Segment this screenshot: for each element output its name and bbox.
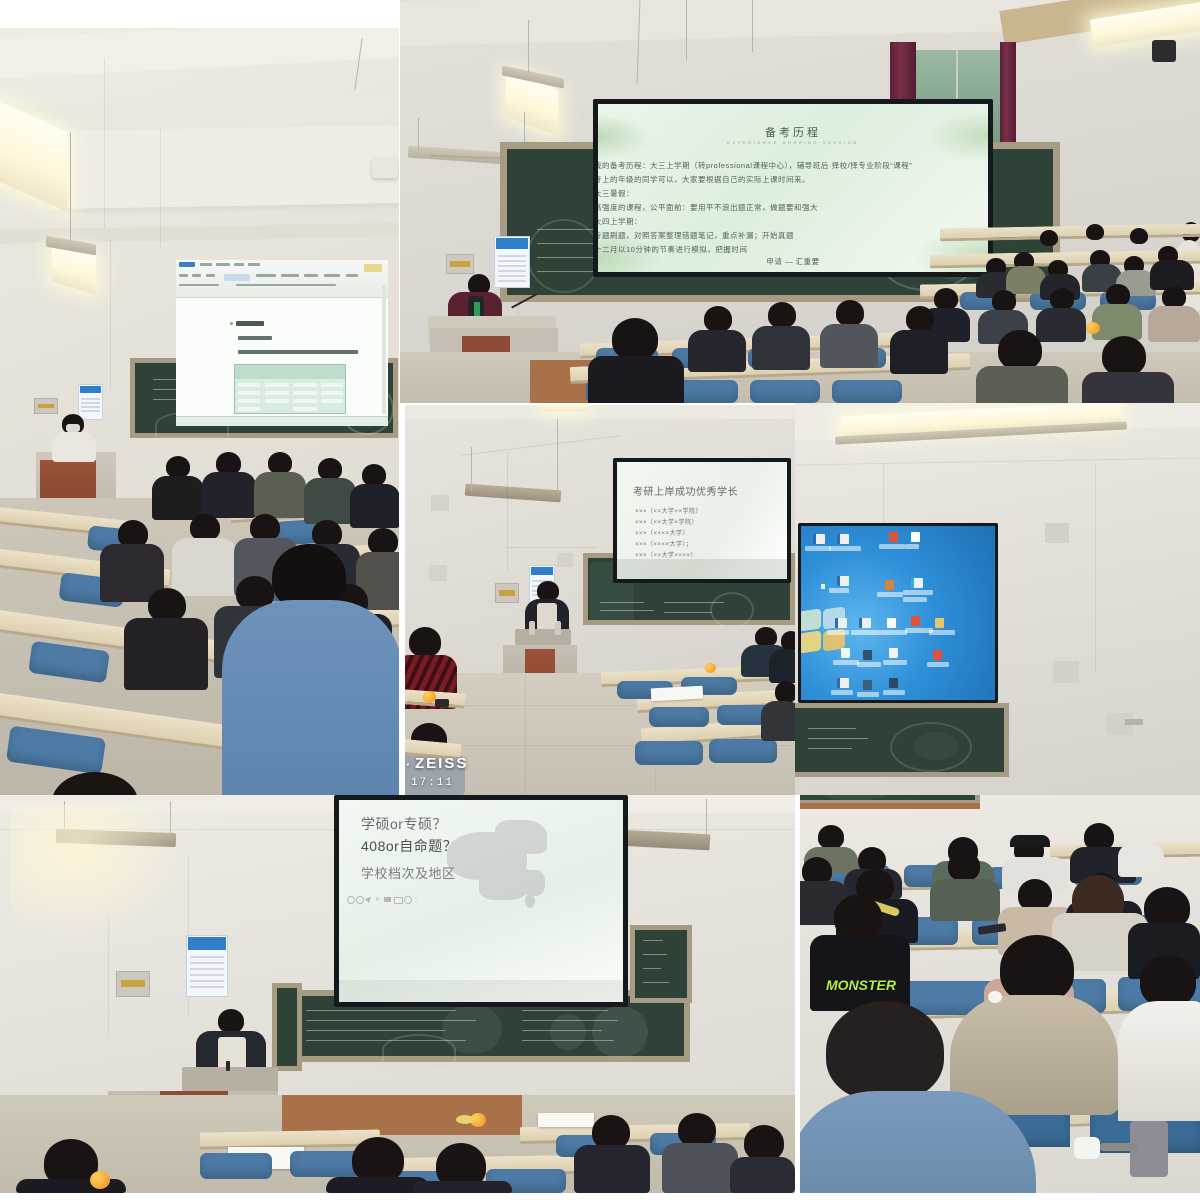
student-head <box>934 288 958 310</box>
mail-icon[interactable] <box>394 897 403 904</box>
projection-screen: 考研上岸成功优秀学长 ×××（××大学××学院） ×××（××大学×学院） ××… <box>613 458 791 583</box>
camera-timestamp: 17:11 <box>411 777 454 789</box>
panel-mid-right <box>795 403 1200 795</box>
image-icon[interactable] <box>889 678 898 688</box>
student-body <box>820 324 878 368</box>
orange-fruit <box>1086 322 1100 334</box>
slide-subtitle: EXPERIENCE SHARING SESSION <box>727 140 859 145</box>
banana-fruit <box>456 1115 474 1124</box>
ceiling-light <box>543 405 587 411</box>
paper-sheet <box>538 1113 594 1127</box>
panel-center: 考研上岸成功优秀学长 ×××（××大学××学院） ×××（××大学×学院） ××… <box>405 405 795 795</box>
student-head <box>906 306 934 332</box>
student-body <box>1036 308 1086 342</box>
blackboard-side <box>630 925 692 1003</box>
projector <box>372 158 398 178</box>
image-icon[interactable] <box>863 650 872 660</box>
photo-collage: 备考历程 EXPERIENCE SHARING SESSION 我的备考历程：大… <box>0 0 1200 1200</box>
microphone <box>555 621 561 635</box>
china-map-watermark <box>437 818 565 906</box>
student-body <box>810 935 910 1011</box>
projection-screen: 学硕or专硕？ 408or自命题？ 学校档次及地区 ✕ ‹ <box>334 795 628 1007</box>
student-body <box>152 476 204 520</box>
student-body <box>172 538 236 596</box>
pen-icon[interactable] <box>365 895 373 903</box>
shirt-logo-text: MONSTER <box>826 977 896 993</box>
slide-bullet: ×××（××大学××学院） <box>635 506 702 515</box>
student-body <box>1082 372 1174 403</box>
student-head <box>1040 230 1058 246</box>
emoji-icon[interactable] <box>404 896 412 904</box>
slide-line: 十二月以10分钟的节奏进行模拟，把握时间 <box>598 244 747 255</box>
camera-brand-watermark: ZEISS <box>415 755 468 772</box>
student-body <box>412 1181 512 1193</box>
student-head <box>834 895 882 939</box>
cap <box>1010 835 1050 847</box>
student-body <box>761 701 795 741</box>
dot-icon[interactable] <box>356 896 364 904</box>
panel-top-left <box>0 28 399 795</box>
student-body <box>1118 1001 1200 1121</box>
microphone <box>529 621 535 635</box>
slide-line: 大三暑假： <box>598 188 634 199</box>
student-head <box>612 318 658 360</box>
student-body <box>574 1145 650 1193</box>
pdf-icon[interactable] <box>911 578 923 588</box>
face-mask <box>66 424 80 432</box>
student-head <box>1130 228 1148 244</box>
slide-line: 408or自命题？ <box>361 836 457 856</box>
student-head <box>948 851 980 881</box>
student-body <box>202 472 256 518</box>
ppt-icon[interactable] <box>889 532 898 542</box>
panel-bottom-left: 学硕or专硕？ 408or自命题？ 学校档次及地区 ✕ ‹ <box>0 795 795 1193</box>
student-head <box>409 627 441 657</box>
student-head <box>744 1125 784 1161</box>
student-head <box>148 588 186 622</box>
student-head <box>781 631 795 651</box>
word-doc-icon[interactable] <box>859 618 871 628</box>
text-file-icon[interactable] <box>841 648 850 658</box>
student-body <box>124 618 208 690</box>
student-head <box>1050 288 1074 310</box>
student-head <box>1162 286 1186 308</box>
slide-line: 考上的年级的同学可以，大家要根据自己的实际上课时间来。 <box>598 174 810 185</box>
slide-line: 学校档次及地区 <box>361 863 456 882</box>
student-head <box>312 520 342 547</box>
word-doc-icon[interactable] <box>837 678 849 688</box>
watermark-dot-icon: · <box>406 757 412 772</box>
slide-footer: 申请 — 汇重要 <box>766 256 819 267</box>
speaker-head <box>218 1009 244 1033</box>
back-icon[interactable]: ‹ <box>415 896 417 902</box>
projection-screen <box>798 523 998 703</box>
cursor-arrow-icon <box>821 584 825 589</box>
student-head <box>592 1115 630 1149</box>
student-body <box>662 1143 738 1193</box>
foreground-student-body <box>222 600 399 795</box>
image-icon[interactable] <box>889 648 898 658</box>
student-head <box>318 458 342 480</box>
word-doc-icon[interactable] <box>813 534 825 544</box>
student-body <box>730 1157 795 1193</box>
slide-bullet: ×××（××××大学）； <box>635 539 693 548</box>
stage-step <box>282 1095 522 1135</box>
ppt-icon[interactable] <box>911 616 920 626</box>
slide-toolbar[interactable]: ✕ ‹ <box>347 895 405 903</box>
student-head <box>1102 336 1146 376</box>
student-head <box>190 514 220 541</box>
student-head <box>818 825 844 849</box>
wall-control-box <box>446 254 474 274</box>
foreground-student-head <box>826 1001 944 1101</box>
smartphone <box>435 699 449 707</box>
student-body <box>254 472 306 518</box>
text-file-icon[interactable] <box>887 618 896 628</box>
student-body <box>350 484 399 528</box>
projection-screen: 备考历程 EXPERIENCE SHARING SESSION 我的备考历程：大… <box>593 99 993 277</box>
slide-line: 我的备考历程：大三上学期（转professional课程中心），辅导班后·择校/… <box>598 160 912 171</box>
student-head <box>1106 284 1130 306</box>
slide-bullet: ×××（××大学××××） <box>635 550 697 559</box>
doc-table <box>234 364 346 414</box>
slide-title: 备考历程 <box>765 124 821 140</box>
student-body <box>1118 843 1164 877</box>
wall-control-box <box>495 583 519 603</box>
student-body <box>930 879 1000 921</box>
student-head <box>1140 955 1196 1007</box>
podium <box>182 1067 278 1093</box>
student-head <box>678 1113 716 1147</box>
blackboard <box>795 703 1009 777</box>
student-head <box>998 330 1042 370</box>
student-head <box>368 528 398 555</box>
student-head <box>362 464 386 486</box>
student-body <box>752 326 810 370</box>
rect-icon[interactable] <box>384 897 391 902</box>
image-icon[interactable] <box>863 680 872 690</box>
classroom-notice-poster <box>494 236 530 288</box>
student-body <box>688 330 746 372</box>
white-cup <box>988 991 1002 1003</box>
word-doc-icon[interactable] <box>837 534 849 544</box>
classroom-notice-poster <box>186 935 228 997</box>
student-body <box>976 366 1068 403</box>
ppt-icon[interactable] <box>933 650 942 660</box>
student-head <box>1000 935 1074 1003</box>
slide-title: 考研上岸成功优秀学长 <box>633 483 738 498</box>
student-head <box>166 456 190 478</box>
student-head <box>268 452 292 474</box>
speaker-head <box>537 581 559 601</box>
classroom-notice-poster <box>78 384 103 420</box>
dot-icon[interactable] <box>347 896 355 904</box>
microphone <box>226 1061 230 1071</box>
student-body <box>1092 304 1142 340</box>
slide-line: 高强度的课程，公平面前：要用平不浪出题正常，做题要和强大 <box>598 202 818 213</box>
projection-screen <box>176 260 388 426</box>
student-head <box>768 302 796 328</box>
word-doc-icon[interactable] <box>837 576 849 586</box>
slide-line: 大四上学期： <box>598 216 642 227</box>
doc-heading <box>236 321 264 326</box>
student-head <box>1086 224 1104 240</box>
student-body <box>890 330 948 374</box>
student-head <box>704 306 732 332</box>
student-body <box>769 649 795 683</box>
panel-bottom-right: MONSTER MONSTER <box>800 795 1200 1193</box>
white-cup <box>1074 1137 1100 1159</box>
notebook <box>651 686 704 702</box>
person-body <box>52 432 96 462</box>
panel-top-right: 备考历程 EXPERIENCE SHARING SESSION 我的备考历程：大… <box>400 0 1200 403</box>
wall-control-box <box>116 971 150 997</box>
eyeglasses <box>1100 1143 1138 1151</box>
wall-speaker <box>1152 40 1176 62</box>
student-head <box>755 627 777 647</box>
image-icon[interactable] <box>885 580 894 590</box>
wall-control-box <box>34 398 58 414</box>
student-head <box>250 514 280 541</box>
slide-bullet: ×××（××××大学） <box>635 528 689 537</box>
folder-icon[interactable] <box>935 618 944 628</box>
slide-line: 专题刷题，对照答案整理错题笔记，重点补漏；开始真题 <box>598 230 794 241</box>
student-head <box>836 300 864 326</box>
student-head <box>992 290 1016 312</box>
student-body <box>588 356 684 403</box>
word-doc-icon[interactable] <box>835 618 847 628</box>
student-body <box>304 478 356 524</box>
text-file-icon[interactable] <box>911 532 920 542</box>
orange-fruit <box>90 1171 110 1189</box>
student-head <box>775 681 795 703</box>
student-body <box>1148 306 1200 342</box>
slide-line: 学硕or专硕？ <box>361 814 447 834</box>
slide-bullet: ×××（××大学×学院） <box>635 517 698 526</box>
blackboard-side <box>272 983 302 1071</box>
orange-fruit <box>705 663 716 673</box>
podium <box>515 629 571 645</box>
close-icon[interactable]: ✕ <box>375 897 380 903</box>
